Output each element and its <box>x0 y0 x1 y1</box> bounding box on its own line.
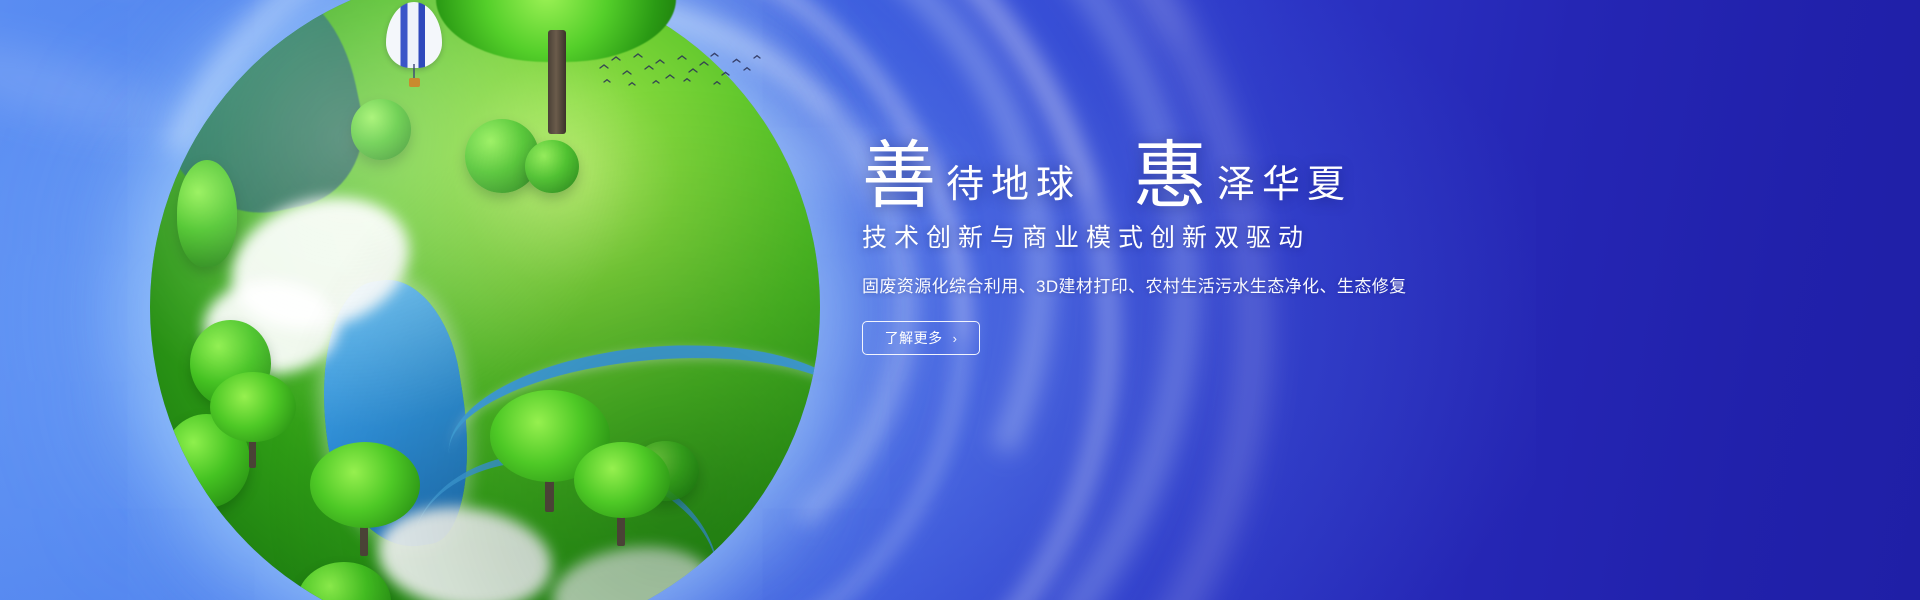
tree-icon <box>210 372 296 468</box>
hot-air-balloon-icon <box>386 2 442 94</box>
bush <box>297 562 391 600</box>
tree-icon <box>310 442 420 554</box>
banner-content: 善 待地球 惠 泽华夏 技术创新与商业模式创新双驱动 固废资源化综合利用、3D建… <box>862 126 1562 355</box>
mountain-range <box>150 0 378 232</box>
bush <box>351 99 411 159</box>
learn-more-label: 了解更多 <box>885 328 943 348</box>
tree-canopy <box>210 372 296 442</box>
tree-canopy <box>574 442 670 518</box>
banner-description: 固废资源化综合利用、3D建材打印、农村生活污水生态净化、生态修复 <box>862 272 1562 297</box>
headline-text-1: 待地球 <box>936 166 1081 212</box>
hero-banner: 善 待地球 惠 泽华夏 技术创新与商业模式创新双驱动 固废资源化综合利用、3D建… <box>0 0 1920 600</box>
learn-more-button[interactable]: 了解更多 › <box>862 321 980 355</box>
chevron-right-icon: › <box>953 332 958 345</box>
banner-subtitle: 技术创新与商业模式创新双驱动 <box>862 218 1562 254</box>
cloud-patch <box>216 177 425 349</box>
cloud-patch <box>547 537 718 600</box>
headline-text-2: 泽华夏 <box>1207 166 1352 212</box>
bush <box>525 140 579 194</box>
balloon-envelope <box>386 2 442 68</box>
page-title: 善 待地球 惠 泽华夏 <box>862 126 1562 212</box>
headline-char-2: 惠 <box>1133 142 1207 212</box>
balloon-basket <box>409 78 420 87</box>
tree-icon <box>574 442 670 546</box>
cloud-patch <box>204 280 338 374</box>
bush <box>465 119 539 193</box>
tree-canopy <box>310 442 420 528</box>
tree-trunk <box>548 30 566 134</box>
headline-char-1: 善 <box>862 142 936 212</box>
bush <box>177 160 237 267</box>
birds-icon <box>596 48 766 92</box>
